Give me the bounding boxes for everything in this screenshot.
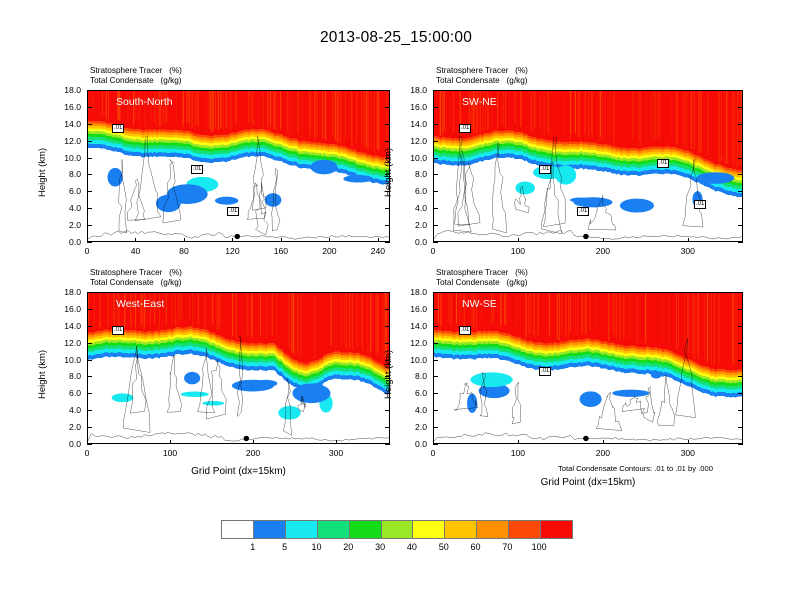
contour-label: .01 bbox=[112, 326, 124, 335]
colorbar-segment bbox=[541, 521, 572, 538]
y-tick-mark bbox=[433, 393, 438, 394]
y-tick-mark-right bbox=[738, 360, 743, 361]
colorbar-tick-label: 20 bbox=[333, 542, 363, 552]
contour-label: .01 bbox=[227, 207, 239, 216]
y-tick-label: 0.0 bbox=[397, 440, 427, 448]
x-axis-label: Grid Point (dx=15km) bbox=[508, 477, 668, 488]
y-tick-mark bbox=[433, 427, 438, 428]
contour-label: .01 bbox=[191, 165, 203, 174]
x-tick-mark bbox=[603, 440, 604, 444]
y-tick-mark bbox=[433, 292, 438, 293]
x-tick-label: 200 bbox=[583, 449, 623, 458]
contour-label: .01 bbox=[112, 124, 124, 133]
y-tick-label: 8.0 bbox=[397, 372, 427, 380]
colorbar-segment bbox=[222, 521, 254, 538]
colorbar-segment bbox=[350, 521, 382, 538]
y-tick-mark-right bbox=[738, 292, 743, 293]
y-tick-mark bbox=[433, 360, 438, 361]
condensate-blobs bbox=[467, 372, 662, 413]
contour-label: .01 bbox=[657, 159, 669, 168]
y-tick-mark bbox=[433, 309, 438, 310]
header-total-condensate: Total Condensate (g/kg) bbox=[436, 278, 528, 288]
colorbar-segment bbox=[477, 521, 509, 538]
tracer-field bbox=[434, 293, 742, 443]
panel-header: Stratosphere Tracer (%)Total Condensate … bbox=[436, 268, 528, 288]
colorbar-segment bbox=[318, 521, 350, 538]
x-tick-mark bbox=[433, 440, 434, 444]
colorbar-tick-label: 10 bbox=[301, 542, 331, 552]
panel-label: NW-SE bbox=[462, 298, 497, 310]
y-tick-label: 2.0 bbox=[397, 423, 427, 431]
y-tick-mark-right bbox=[738, 427, 743, 428]
y-tick-mark-right bbox=[738, 444, 743, 445]
x-tick-mark bbox=[518, 440, 519, 444]
colorbar-strip bbox=[221, 520, 573, 539]
y-tick-mark-right bbox=[738, 376, 743, 377]
colorbar-segment bbox=[445, 521, 477, 538]
y-tick-mark bbox=[433, 343, 438, 344]
y-tick-label: 18.0 bbox=[397, 288, 427, 296]
colorbar-tick-label: 100 bbox=[524, 542, 554, 552]
y-tick-label: 12.0 bbox=[397, 339, 427, 347]
y-tick-mark-right bbox=[738, 393, 743, 394]
x-tick-label: 300 bbox=[668, 449, 708, 458]
colorbar-tick-label: 60 bbox=[461, 542, 491, 552]
y-tick-mark-right bbox=[738, 343, 743, 344]
y-tick-label: 16.0 bbox=[397, 305, 427, 313]
colorbar-tick-label: 30 bbox=[365, 542, 395, 552]
colorbar-segment bbox=[413, 521, 445, 538]
y-tick-label: 6.0 bbox=[397, 389, 427, 397]
colorbar-segment bbox=[254, 521, 286, 538]
y-tick-mark-right bbox=[738, 309, 743, 310]
y-tick-label: 14.0 bbox=[397, 322, 427, 330]
y-tick-label: 10.0 bbox=[397, 356, 427, 364]
colorbar-tick-label: 5 bbox=[270, 542, 300, 552]
y-tick-mark bbox=[433, 376, 438, 377]
x-tick-mark bbox=[688, 440, 689, 444]
plot-area[interactable]: .01.01NW-SE bbox=[433, 292, 743, 444]
colorbar-segment bbox=[382, 521, 414, 538]
figure-canvas: 2013-08-25_15:00:00 Stratosphere Tracer … bbox=[0, 0, 792, 612]
x-tick-label: 100 bbox=[498, 449, 538, 458]
header-stratosphere-tracer: Stratosphere Tracer (%) bbox=[436, 268, 528, 277]
colorbar-tick-label: 40 bbox=[397, 542, 427, 552]
contour-label: .01 bbox=[694, 200, 706, 209]
colorbar-tick-label: 1 bbox=[238, 542, 268, 552]
contour-label: .01 bbox=[539, 367, 551, 376]
colorbar-segment bbox=[286, 521, 318, 538]
contour-note: Total Condensate Contours: .01 to .01 by… bbox=[558, 464, 713, 473]
contour-label: .01 bbox=[459, 326, 471, 335]
y-tick-mark bbox=[433, 444, 438, 445]
x-tick-label: 0 bbox=[413, 449, 453, 458]
y-tick-mark-right bbox=[738, 326, 743, 327]
contour-label: .01 bbox=[459, 124, 471, 133]
colorbar-segment bbox=[509, 521, 541, 538]
colorbar-tick-label: 50 bbox=[429, 542, 459, 552]
panel-label: West-East bbox=[116, 298, 164, 310]
panel-label: SW-NE bbox=[462, 96, 497, 108]
panel-label: South-North bbox=[116, 96, 173, 108]
y-tick-mark bbox=[433, 326, 438, 327]
y-tick-label: 4.0 bbox=[397, 406, 427, 414]
y-tick-mark bbox=[433, 410, 438, 411]
location-marker bbox=[583, 436, 589, 441]
colorbar-tick-label: 70 bbox=[492, 542, 522, 552]
y-axis-label: Height (km) bbox=[383, 350, 394, 399]
y-tick-mark-right bbox=[738, 410, 743, 411]
contour-label: .01 bbox=[539, 165, 551, 174]
contour-label: .01 bbox=[577, 207, 589, 216]
